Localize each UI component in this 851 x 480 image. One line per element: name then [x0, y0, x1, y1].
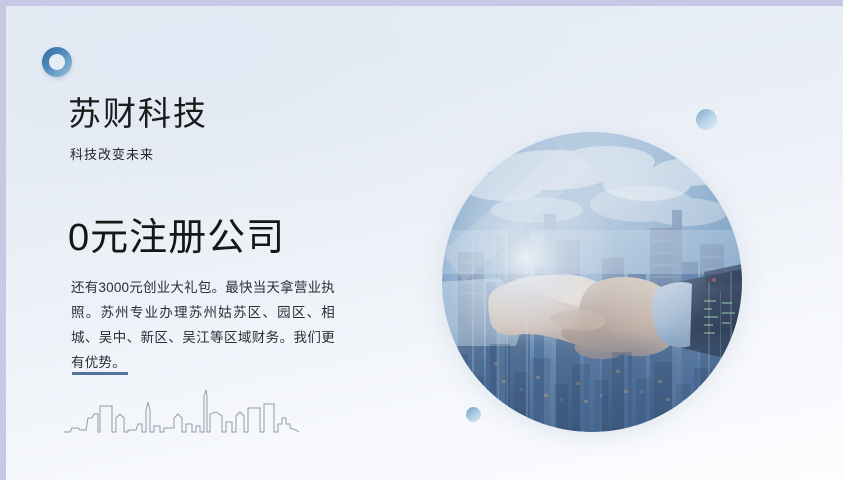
quarter-ring-arc-icon [747, 410, 843, 480]
slide-frame-right-border [843, 0, 851, 480]
brand-tagline: 科技改变未来 [70, 144, 154, 163]
handshake-cityscape-photo [442, 132, 742, 432]
decorative-dot-icon [696, 109, 717, 130]
page-title: 0元注册公司 [68, 214, 285, 262]
slide-frame-left-border [0, 0, 6, 480]
decorative-dot-icon [466, 407, 481, 422]
slide-frame-top-border [0, 0, 851, 6]
presentation-slide: 苏财科技 科技改变未来 0元注册公司 还有3000元创业大礼包。最快当天拿营业执… [0, 0, 851, 480]
accent-underline-bar [72, 372, 128, 375]
brand-name: 苏财科技 [68, 94, 208, 134]
ring-circle-icon [42, 47, 72, 77]
body-description: 还有3000元创业大礼包。最快当天拿营业执照。苏州专业办理苏州姑苏区、园区、相城… [71, 275, 335, 375]
slide-canvas: 苏财科技 科技改变未来 0元注册公司 还有3000元创业大礼包。最快当天拿营业执… [6, 6, 843, 480]
city-skyline-outline-icon [64, 388, 299, 434]
